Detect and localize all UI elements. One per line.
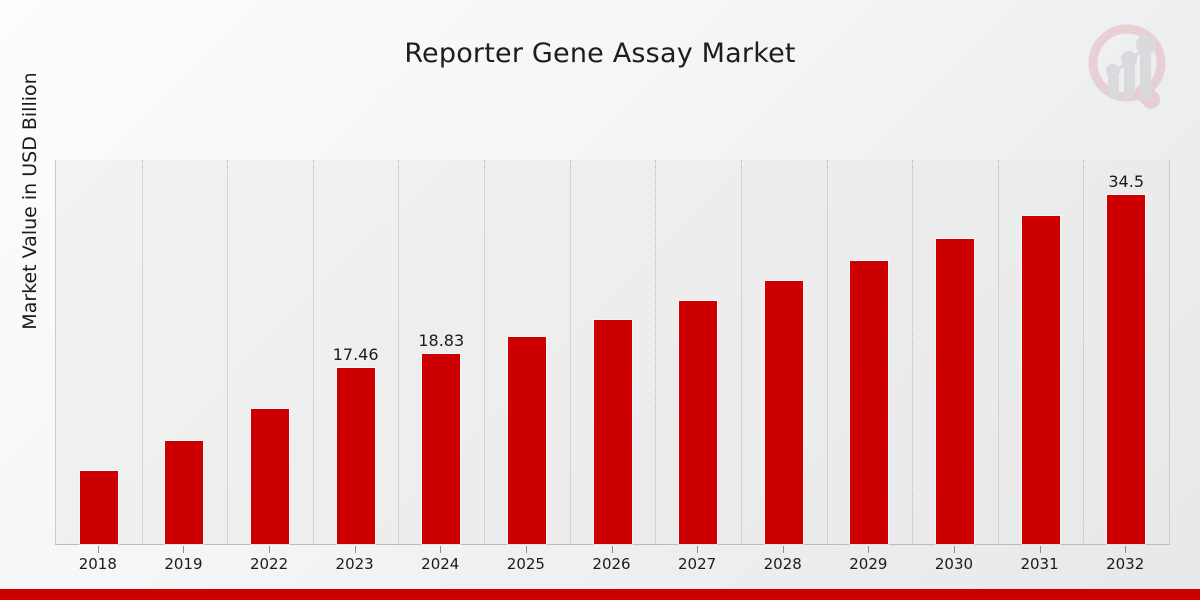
x-tick-label-2023: 2023: [315, 555, 395, 573]
x-tick-label-2022: 2022: [229, 555, 309, 573]
bar-2031[interactable]: [1022, 216, 1060, 544]
footer-accent-band: [0, 589, 1200, 600]
bar-2025[interactable]: [508, 337, 546, 544]
y-axis-title: Market Value in USD Billion: [19, 1, 41, 401]
x-tick-label-2030: 2030: [914, 555, 994, 573]
x-tick-mark-2026: [612, 546, 613, 553]
bar-value-label-2023: 17.46: [316, 345, 396, 364]
x-tick-label-2025: 2025: [486, 555, 566, 573]
bar-value-label-2024: 18.83: [401, 331, 481, 350]
bar-2019[interactable]: [165, 441, 203, 544]
x-tick-mark-2031: [1040, 546, 1041, 553]
x-tick-mark-2022: [269, 546, 270, 553]
x-tick-mark-2029: [868, 546, 869, 553]
x-tick-label-2029: 2029: [828, 555, 908, 573]
market-research-logo-watermark: [1082, 18, 1182, 118]
x-tick-label-2019: 2019: [143, 555, 223, 573]
x-tick-mark-2018: [98, 546, 99, 553]
x-axis: 2018201920222023202420252026202720282029…: [55, 546, 1170, 576]
x-tick-label-2031: 2031: [1000, 555, 1080, 573]
bar-2022[interactable]: [251, 409, 289, 544]
x-tick-mark-2030: [954, 546, 955, 553]
bar-2027[interactable]: [679, 301, 717, 544]
chart-figure: Reporter Gene Assay Market 17.4618.8334.…: [0, 0, 1200, 600]
x-tick-mark-2028: [783, 546, 784, 553]
x-tick-mark-2024: [440, 546, 441, 553]
bar-2026[interactable]: [594, 320, 632, 544]
x-tick-mark-2023: [355, 546, 356, 553]
bar-2023[interactable]: [337, 368, 375, 544]
x-tick-label-2028: 2028: [743, 555, 823, 573]
x-tick-mark-2027: [697, 546, 698, 553]
page-title: Reporter Gene Assay Market: [0, 38, 1200, 69]
x-tick-label-2032: 2032: [1085, 555, 1165, 573]
bar-2024[interactable]: [422, 354, 460, 544]
bar-2018[interactable]: [80, 471, 118, 544]
bar-chart-icon: [1106, 35, 1156, 99]
bar-2030[interactable]: [936, 239, 974, 544]
x-tick-label-2026: 2026: [572, 555, 652, 573]
bar-2032[interactable]: [1107, 195, 1145, 544]
x-tick-mark-2019: [183, 546, 184, 553]
x-tick-label-2027: 2027: [657, 555, 737, 573]
bars-layer: 17.4618.8334.5: [56, 160, 1169, 544]
bar-2028[interactable]: [765, 281, 803, 544]
bar-2029[interactable]: [850, 261, 888, 544]
x-tick-mark-2025: [526, 546, 527, 553]
bar-value-label-2032: 34.5: [1086, 172, 1166, 191]
x-tick-label-2024: 2024: [400, 555, 480, 573]
x-tick-mark-2032: [1125, 546, 1126, 553]
x-tick-label-2018: 2018: [58, 555, 138, 573]
plot-area: 17.4618.8334.5: [55, 160, 1170, 545]
